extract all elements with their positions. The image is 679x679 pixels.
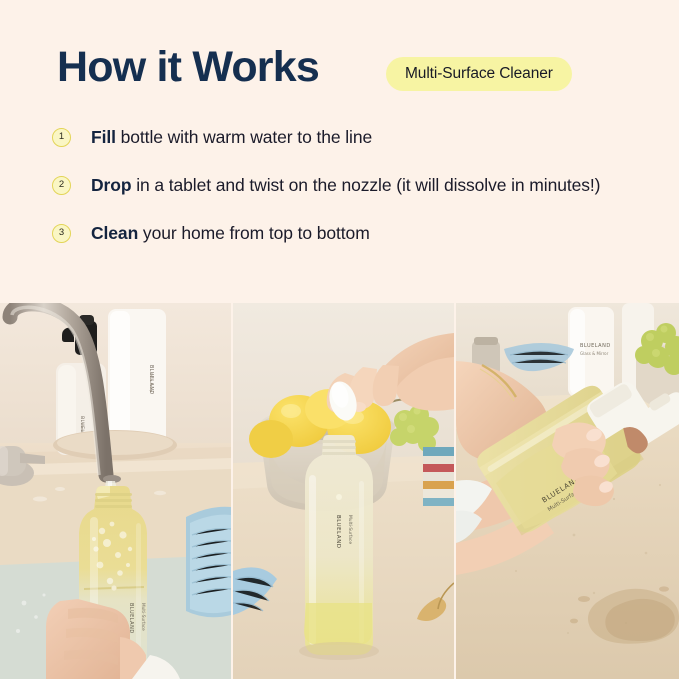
step-text-2: Drop in a tablet and twist on the nozzle… [91,172,642,199]
svg-text:Multi-Surface: Multi-Surface [347,515,353,544]
photo-spray-clean-counter: BLUELAND Glass & Mirror [456,303,679,679]
step-lead-2: Drop [91,175,131,195]
steps-list: 1 Fill bottle with warm water to the lin… [52,124,642,247]
step-item-3: 3 Clean your home from top to bottom [52,220,642,247]
step-rest-3: your home from top to bottom [138,223,370,243]
step-item-1: 1 Fill bottle with warm water to the lin… [52,124,642,151]
product-badge: Multi-Surface Cleaner [386,57,572,91]
svg-text:Dish Soap: Dish Soap [149,373,154,393]
step-item-2: 2 Drop in a tablet and twist on the nozz… [52,172,642,199]
svg-text:BLUELAND: BLUELAND [580,343,611,349]
step-lead-3: Clean [91,223,138,243]
step-text-1: Fill bottle with warm water to the line [91,124,642,151]
svg-text:Glass & Mirror: Glass & Mirror [580,351,609,356]
step-text-3: Clean your home from top to bottom [91,220,642,247]
step-rest-2: in a tablet and twist on the nozzle (it … [131,175,600,195]
photo-drop-tablet-in-bottle: BLUELAND Multi-Surface [233,303,454,679]
step-number-badge-3: 3 [52,224,71,243]
step-rest-1: bottle with warm water to the line [116,127,372,147]
photo-fill-bottle-at-faucet: BLUELAND Hand Soap BLUELAND Dish Soap [0,303,231,679]
svg-text:BLUELAND: BLUELAND [335,515,341,549]
step-number-badge-1: 1 [52,128,71,147]
instructions-panel: How it Works Multi-Surface Cleaner 1 Fil… [0,0,679,303]
how-it-works-infographic: How it Works Multi-Surface Cleaner 1 Fil… [0,0,679,679]
photo-strip: BLUELAND Hand Soap BLUELAND Dish Soap [0,303,679,679]
step-number-badge-2: 2 [52,176,71,195]
svg-text:Multi-Surface: Multi-Surface [141,603,146,631]
header-row: How it Works Multi-Surface Cleaner [57,42,637,98]
page-title: How it Works [57,42,319,92]
product-badge-label: Multi-Surface Cleaner [405,57,553,91]
step-lead-1: Fill [91,127,116,147]
